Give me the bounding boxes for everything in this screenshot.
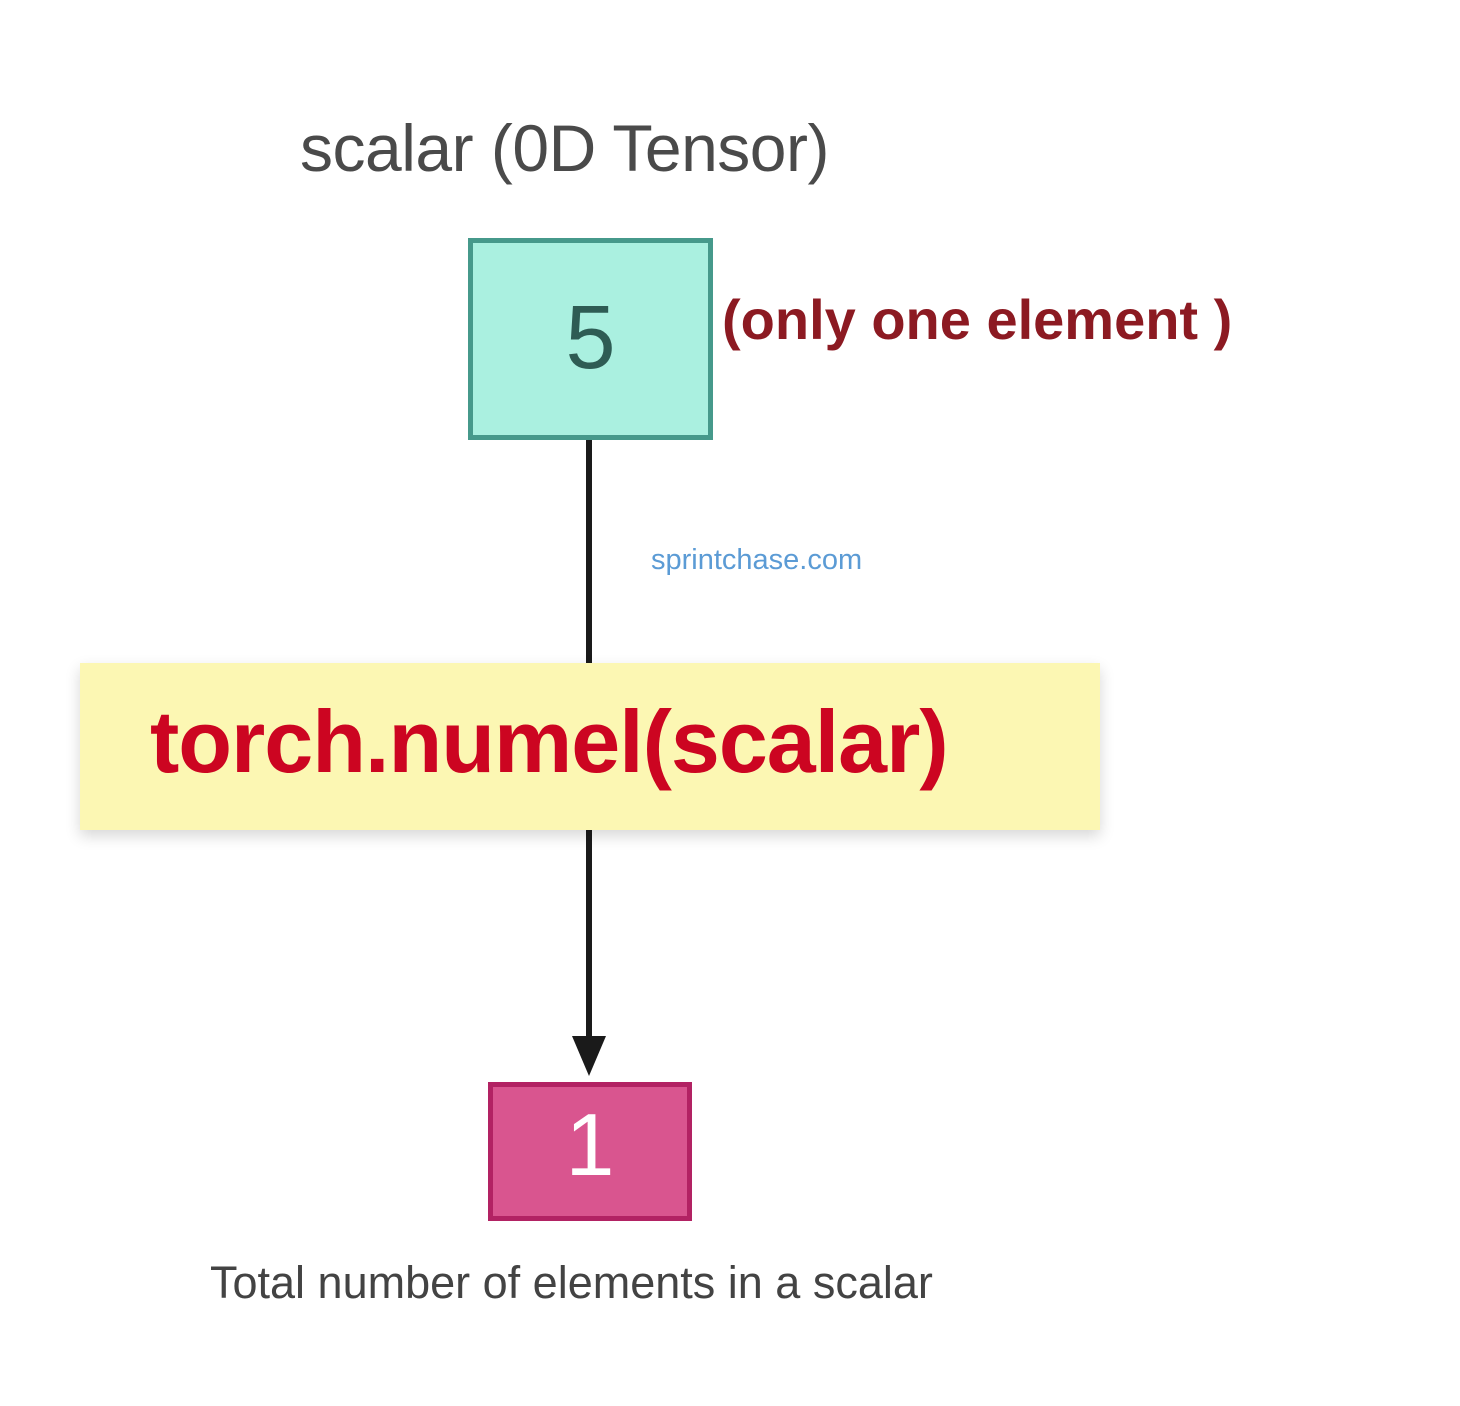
result-value-label: 1	[493, 1101, 687, 1189]
operation-label: torch.numel(scalar)	[150, 687, 948, 797]
result-caption: Total number of elements in a scalar	[210, 1257, 933, 1309]
tensor-numel-diagram: scalar (0D Tensor) 5 (only one element )…	[0, 0, 1460, 1406]
connector-line-upper	[586, 438, 592, 670]
scalar-annotation-label: (only one element )	[722, 288, 1232, 352]
result-value-box: 1	[488, 1082, 692, 1221]
operation-banner: torch.numel(scalar)	[80, 663, 1100, 830]
scalar-value-label: 5	[473, 293, 708, 383]
scalar-tensor-box: 5	[468, 238, 713, 440]
arrow-down-icon	[572, 1036, 606, 1076]
connector-line-lower	[586, 824, 592, 1046]
watermark-label: sprintchase.com	[651, 543, 862, 578]
page-title: scalar (0D Tensor)	[300, 113, 829, 184]
